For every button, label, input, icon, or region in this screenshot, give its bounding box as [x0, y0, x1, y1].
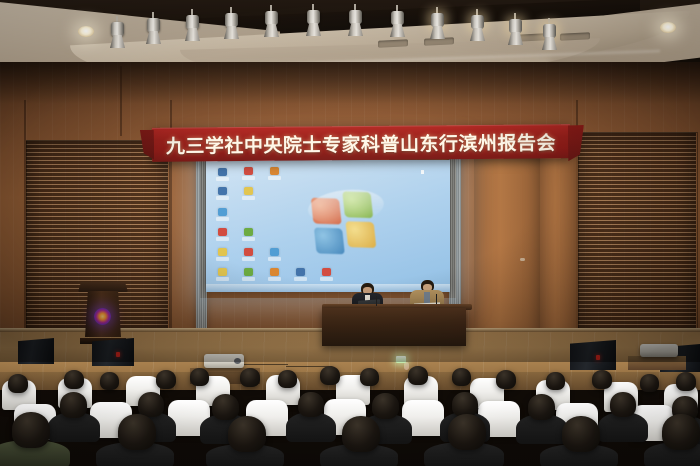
ceiling-spotlight — [508, 13, 523, 47]
audience-head — [8, 374, 28, 393]
audience-head — [562, 416, 600, 452]
audience-head — [320, 366, 340, 385]
audience-head — [610, 392, 636, 417]
auditorium-photo: 九三学社中央院士专家科普山东行滨州报告会 — [0, 0, 700, 466]
spotlight-shade — [146, 31, 161, 44]
spotlight-housing — [509, 19, 522, 33]
spotlight-housing — [471, 15, 484, 29]
spotlight-shade — [224, 26, 239, 39]
ceiling-spotlight — [306, 4, 321, 38]
projector-cable — [244, 364, 288, 365]
audience-head — [12, 412, 50, 448]
spotlight-housing — [147, 18, 160, 32]
audience-head — [342, 416, 380, 452]
audience-head — [118, 414, 156, 450]
recessed-ceiling-light — [660, 22, 676, 33]
audience-head — [372, 393, 399, 419]
audience-head — [212, 394, 239, 420]
spotlight-housing — [307, 10, 320, 24]
audience-head — [448, 414, 486, 450]
audience-head — [240, 368, 260, 387]
audience-head — [676, 372, 696, 391]
audience-head — [138, 392, 164, 417]
spotlight-housing — [186, 15, 199, 29]
ceiling-spotlight — [224, 7, 239, 41]
raised-hand — [404, 362, 409, 370]
audience-head — [298, 392, 324, 417]
photo-vignette — [0, 62, 700, 362]
ceiling-spotlight — [146, 12, 161, 46]
recessed-ceiling-light — [78, 26, 94, 37]
audience-head — [662, 414, 700, 450]
spotlight-housing — [431, 13, 444, 27]
spotlight-shade — [430, 26, 445, 39]
spotlight-shade — [508, 32, 523, 45]
spotlight-shade — [185, 28, 200, 41]
spotlight-housing — [391, 11, 404, 25]
audience-head — [100, 372, 119, 390]
spotlight-housing — [349, 10, 362, 24]
ceiling-spotlight — [430, 7, 445, 41]
audience-head — [408, 366, 428, 385]
audience-head — [278, 370, 297, 388]
audience-head — [190, 368, 209, 386]
audience-head — [546, 372, 565, 390]
audience-head — [60, 392, 87, 418]
ceiling-spotlight — [264, 5, 279, 39]
spotlight-housing — [543, 24, 556, 38]
audience-head — [452, 368, 471, 386]
audience-head — [528, 394, 555, 420]
audience-head — [592, 370, 612, 389]
spotlight-shade — [264, 24, 279, 37]
audience-head — [156, 370, 176, 389]
audience-head — [360, 368, 379, 386]
audience-head — [640, 374, 659, 392]
spotlight-shade — [470, 28, 485, 41]
audience-head — [496, 370, 516, 389]
ceiling-spotlight — [390, 5, 405, 39]
spotlight-shade — [542, 37, 557, 50]
ceiling-spotlight — [185, 9, 200, 43]
spotlight-housing — [225, 13, 238, 27]
spotlight-shade — [348, 23, 363, 36]
spotlight-housing — [265, 11, 278, 25]
spotlight-shade — [390, 24, 405, 37]
ceiling-spotlight — [542, 18, 557, 52]
ceiling-spotlight — [470, 9, 485, 43]
ceiling-spotlight — [348, 4, 363, 38]
spotlight-shade — [110, 35, 125, 48]
ceiling-spotlight — [110, 16, 125, 50]
spotlight-housing — [111, 22, 124, 36]
audience-head — [64, 370, 84, 389]
audience-head — [228, 416, 266, 452]
spotlight-shade — [306, 23, 321, 36]
